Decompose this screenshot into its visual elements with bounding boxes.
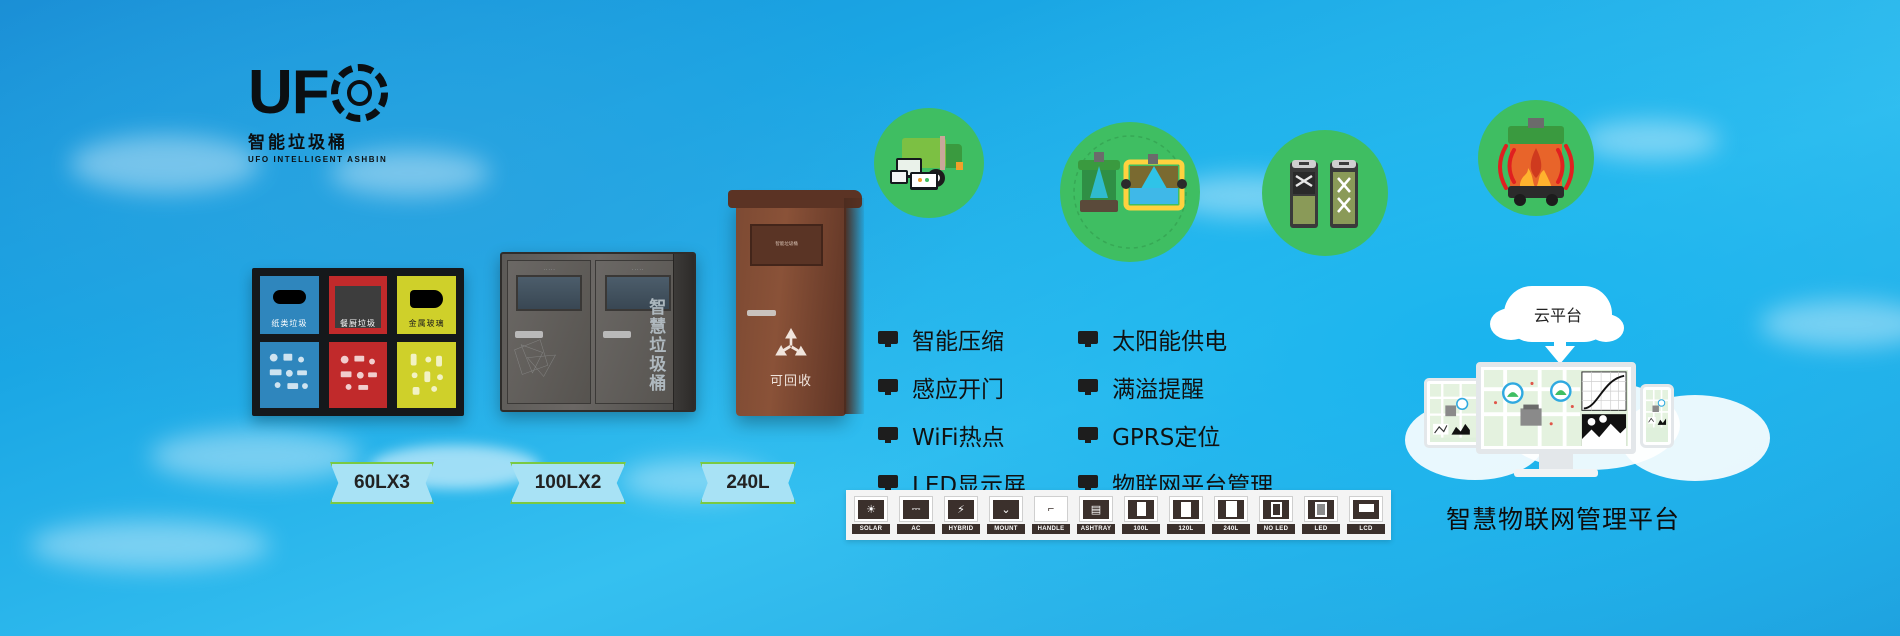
gray-bin-door-right: · · · · · [595,260,679,404]
spec-icon-no-led[interactable]: NO LED [1257,496,1295,534]
feature-item: 感应开门 [878,370,1026,404]
sun-icon: ☀ [854,496,888,522]
iot-platform-illustration: 云平台 [1418,296,1690,496]
feature-label: WiFi热点 [912,418,1005,452]
banner-240l: 240L [700,462,796,504]
spec-icon-hybrid[interactable]: ⚡ HYBRID [942,496,980,534]
feature-item: 太阳能供电 [1078,322,1273,356]
feature-list: 智能压缩 感应开门 WiFi热点 LED显示屏 太阳能供电 满溢提醒 [878,322,1273,500]
fire-alarm-icon [1478,100,1594,216]
brown-bin-screen: 智能垃圾桶 [750,224,823,266]
mini-map-graphic [1430,384,1476,438]
feature-label: 感应开门 [912,370,1004,404]
feature-column-right: 太阳能供电 满溢提醒 GPRS定位 物联网平台管理 [1078,322,1273,500]
litter-graphic [260,342,319,401]
device-tablet [1424,378,1482,448]
tablet-screen [1430,384,1476,442]
mini-map-graphic [1646,390,1668,428]
feature-circle-fire-alarm [1478,100,1594,216]
bin-cell-metal-glass: 金属玻璃 [395,274,458,410]
banner-label: 100LX2 [535,472,602,494]
garbage-truck-icon [874,108,984,218]
feature-label: 满溢提醒 [1112,370,1204,404]
monitor-bullet-icon [1078,379,1098,395]
lightning-icon: ⚡ [944,496,978,522]
cloud-decor [70,135,260,193]
cloud-platform-badge: 云平台 [1504,286,1612,342]
monitor-bullet-icon [878,331,898,347]
banner-100lx2: 100LX2 [510,462,626,504]
spec-label: SOLAR [852,524,890,534]
spec-label: LCD [1347,524,1385,534]
feature-circle-overflow-sensor [1060,122,1200,262]
product-brown-bin: 智能垃圾桶 可回收 [736,200,846,416]
cloud-decor [1580,120,1720,160]
spec-label: 120L [1167,524,1205,534]
monitor-bullet-icon [1078,427,1098,443]
bin-label-metal-glass: 金属玻璃 [397,318,456,329]
device-phone [1640,384,1674,448]
spec-icon-led[interactable]: LED [1302,496,1340,534]
spec-icon-120l[interactable]: 120L [1167,496,1205,534]
monitor-stand [1539,454,1573,470]
feature-circle-smart-collection-truck [874,108,984,218]
monitor-bullet-icon [1078,331,1098,347]
slot-oval-icon [273,290,306,304]
recycle-icon [770,324,812,366]
gray-bin-tag: · · · · · [516,267,582,274]
monitor-base [1514,469,1598,477]
spec-label: NO LED [1257,524,1295,534]
bin-cell-paper: 纸类垃圾 [258,274,321,410]
bin-body-metal-glass [395,340,458,410]
gray-bin-handle-right [603,331,631,338]
no-led-icon [1259,496,1293,522]
monitor-bullet-icon [878,379,898,395]
phone-screen [1646,390,1668,442]
spec-label: LED [1302,524,1340,534]
feature-item: WiFi热点 [878,418,1026,452]
feature-item: 满溢提醒 [1078,370,1273,404]
monitor-screen [1484,370,1628,446]
gray-bin-tag: · · · · · [605,267,671,274]
gray-bin-vertical-label: 智慧垃圾桶 [643,298,665,393]
brown-bin-handle [747,310,776,316]
bin-body-kitchen [327,340,390,410]
handle-icon: ⌐ [1034,496,1068,522]
bin-top-paper: 纸类垃圾 [258,274,321,336]
spec-icon-solar[interactable]: ☀ SOLAR [852,496,890,534]
feature-item: 智能压缩 [878,322,1026,356]
monitor-bullet-icon [878,475,898,491]
device-monitor [1476,362,1636,454]
logo-english-name: UFO INTELLIGENT ASHBIN [248,155,388,164]
spec-icon-strip: ☀ SOLAR ⎓ AC ⚡ HYBRID ⌄ MOUNT ⌐ HANDLE ▤… [846,490,1391,540]
monitor-bullet-icon [1078,475,1098,491]
spec-icon-lcd[interactable]: LCD [1347,496,1385,534]
brown-bin-screen-label: 智能垃圾桶 [752,226,821,264]
litter-graphic [397,342,456,401]
bin-body-paper [258,340,321,410]
twin-bin-compactor-icon [1262,130,1388,256]
bin-100l-icon [1124,496,1158,522]
cloud-platform-label: 云平台 [1534,302,1582,326]
cloud-decor [150,430,360,482]
banner-60lx3: 60LX3 [330,462,434,504]
feature-label: 智能压缩 [912,322,1004,356]
bin-top-kitchen: 餐厨垃圾 [327,274,390,336]
ring-o-icon [331,64,388,122]
banner-label: 60LX3 [354,472,410,494]
spec-icon-ac[interactable]: ⎓ AC [897,496,935,534]
feature-label: GPRS定位 [1112,418,1220,452]
monitor-bullet-icon [878,427,898,443]
spec-label: 100L [1122,524,1160,534]
bin-label-paper: 纸类垃圾 [260,318,319,329]
dashboard-map-graphic [1484,370,1628,446]
feature-column-left: 智能压缩 感应开门 WiFi热点 LED显示屏 [878,322,1026,500]
slot-round-icon [410,290,443,308]
brown-bin-lid [728,190,862,208]
spec-icon-mount[interactable]: ⌄ MOUNT [987,496,1025,534]
bin-240l-icon [1214,496,1248,522]
bin-cell-kitchen: 餐厨垃圾 [327,274,390,410]
plug-icon: ⎓ [899,496,933,522]
product-tri-color-bin: 纸类垃圾 餐厨垃圾 [252,268,464,416]
feature-item: GPRS定位 [1078,418,1273,452]
spec-label: MOUNT [987,524,1025,534]
spec-icon-100l[interactable]: 100L [1122,496,1160,534]
cloud-decor [30,520,270,570]
gray-bin-screen-left [516,275,582,311]
brown-bin-label: 可回收 [736,370,846,389]
platform-caption: 智慧物联网管理平台 [1428,500,1698,536]
overflow-water-sensor-icon [1060,122,1200,262]
spec-label: 240L [1212,524,1250,534]
bin-label-kitchen: 餐厨垃圾 [329,318,388,329]
spec-label: HANDLE [1032,524,1070,534]
logo-chinese-name: 智能垃圾桶 [248,128,388,153]
led-icon [1304,496,1338,522]
spec-icon-handle[interactable]: ⌐ HANDLE [1032,496,1070,534]
brand-logo: UF 智能垃圾桶 UFO INTELLIGENT ASHBIN [248,62,388,164]
spec-icon-240l[interactable]: 240L [1212,496,1250,534]
litter-graphic [329,342,388,401]
spec-label: AC [897,524,935,534]
logo-wordmark: UF [248,66,329,120]
feature-label: 太阳能供电 [1112,322,1227,356]
bin-top-metal-glass: 金属玻璃 [395,274,458,336]
spec-label: HYBRID [942,524,980,534]
banner-label: 240L [726,472,769,494]
spec-icon-ashtray[interactable]: ▤ ASHTRAY [1077,496,1115,534]
cloud-decor [1760,300,1900,348]
mount-icon: ⌄ [989,496,1023,522]
bin-120l-icon [1169,496,1203,522]
gray-bin-side-panel [673,254,694,410]
brown-bin-side-panel [844,198,864,414]
product-gray-double-bin: · · · · · · · · · · 智慧垃圾桶 [500,252,696,412]
spec-label: ASHTRAY [1077,524,1115,534]
gray-bin-door-left: · · · · · [507,260,591,404]
polygon-pattern [512,311,563,399]
feature-circle-twin-bin-compactor [1262,130,1388,256]
promo-banner: UF 智能垃圾桶 UFO INTELLIGENT ASHBIN 纸类垃圾 [0,0,1900,636]
lcd-icon [1349,496,1383,522]
ashtray-icon: ▤ [1079,496,1113,522]
